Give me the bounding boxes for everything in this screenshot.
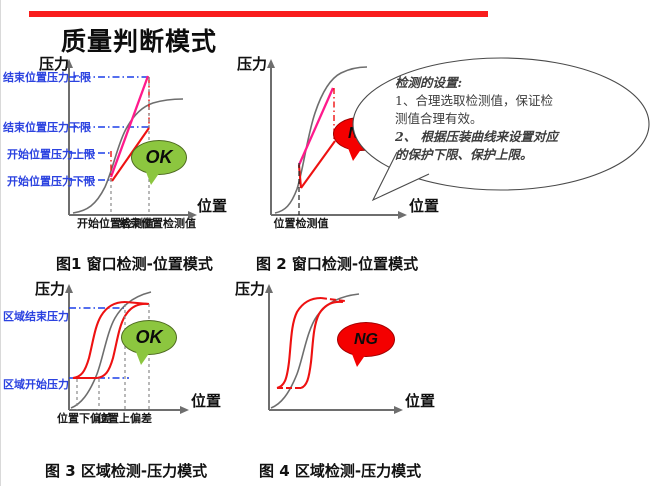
chart1-caption: 图1 窗口检测-位置模式: [56, 253, 213, 274]
page-title: 质量判断模式: [61, 22, 217, 58]
callout-text: 检测的设置: 1、合理选取检测值，保证检 测值合理有效。 2、 根据压装曲线来设…: [395, 74, 595, 164]
chart3-verdict-text: OK: [136, 327, 163, 348]
chart1-threshold-label-start-lower: 开始位置压力下限: [7, 175, 95, 188]
chart1-xtick-end: 结束位置检测值: [119, 217, 189, 230]
accent-bar: [29, 11, 488, 17]
chart2-xtick-detection: 位置检测值: [261, 217, 341, 230]
detection-settings-callout: 检测的设置: 1、合理选取检测值，保证检 测值合理有效。 2、 根据压装曲线来设…: [333, 52, 650, 232]
chart1-threshold-label-start-upper: 开始位置压力上限: [7, 148, 95, 161]
chart3-xtick-upper-dev: 位置上偏差: [97, 412, 137, 425]
chart3-threshold-label-end: 区域结束压力: [3, 310, 67, 323]
chart4-y-axis-label: 压力: [235, 278, 265, 299]
chart1-threshold-label-end-lower: 结束位置压力下限: [3, 121, 91, 134]
chart3-caption: 图 3 区域检测-压力模式: [45, 460, 207, 481]
chart3-figure: 压力 位置 区域结束压力 区域开始压力 位置下偏差 位置上偏差 OK: [1, 282, 231, 462]
chart3-y-axis-label: 压力: [35, 278, 65, 299]
chart3-threshold-label-start: 区域开始压力: [3, 378, 67, 391]
chart1-figure: 压力 位置 结束位置压力上限 结束位置压力下限 开始位置压力上限 开始位置压力下…: [1, 55, 231, 270]
callout-line-1: 1、合理选取检测值，保证检: [395, 92, 595, 110]
chart3-x-axis-label: 位置: [191, 390, 221, 411]
slide-canvas: 质量判断模式: [0, 0, 650, 486]
chart4-verdict-text: NG: [354, 331, 378, 349]
chart1-verdict-text: OK: [146, 147, 173, 168]
callout-line-0: 检测的设置:: [395, 74, 595, 92]
chart3-xtick-lower-dev: 位置下偏差: [57, 412, 97, 425]
chart3-verdict-badge-ok: OK: [121, 320, 177, 355]
chart1-threshold-label-end-upper: 结束位置压力上限: [3, 71, 91, 84]
chart4-caption: 图 4 区域检测-压力模式: [259, 460, 421, 481]
callout-line-2: 测值合理有效。: [395, 110, 595, 128]
badge-tail: [136, 352, 150, 365]
chart2-caption: 图 2 窗口检测-位置模式: [256, 253, 418, 274]
chart3-plot: [1, 282, 231, 462]
callout-line-3: 2、 根据压装曲线来设置对应: [395, 128, 595, 146]
chart1-x-axis-label: 位置: [197, 195, 227, 216]
chart2-y-axis-label: 压力: [237, 53, 267, 74]
badge-tail: [352, 354, 366, 367]
callout-line-4: 的保护下限、保护上限。: [395, 146, 595, 164]
badge-tail: [146, 172, 160, 185]
chart1-verdict-badge-ok: OK: [131, 140, 187, 175]
chart4-figure: 压力 位置 NG: [229, 282, 459, 462]
chart4-x-axis-label: 位置: [405, 390, 435, 411]
chart4-verdict-badge-ng: NG: [337, 322, 395, 357]
chart4-plot: [229, 282, 459, 462]
chart1-plot: [1, 55, 231, 270]
